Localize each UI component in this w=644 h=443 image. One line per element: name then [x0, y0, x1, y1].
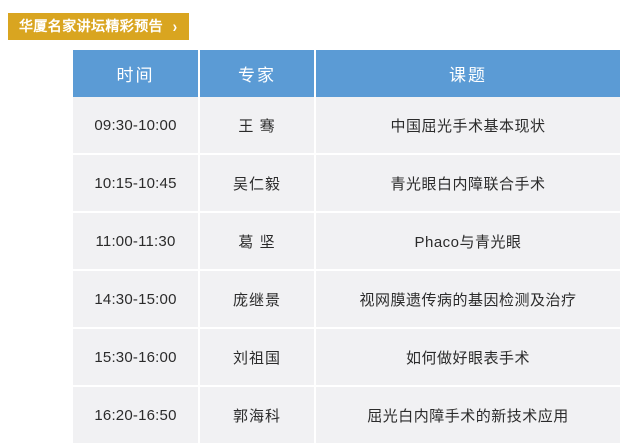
table-row: 11:00-11:30 葛 坚 Phaco与青光眼: [73, 212, 620, 270]
cell-expert: 王 骞: [199, 97, 315, 154]
cell-time: 15:30-16:00: [73, 328, 199, 386]
table-header: 时间 专家 课题: [73, 50, 620, 97]
cell-expert: 庞继景: [199, 270, 315, 328]
cell-topic: 如何做好眼表手术: [315, 328, 620, 386]
table-row: 09:30-10:00 王 骞 中国屈光手术基本现状: [73, 97, 620, 154]
cell-topic: 青光眼白内障联合手术: [315, 154, 620, 212]
table-body: 09:30-10:00 王 骞 中国屈光手术基本现状 10:15-10:45 吴…: [73, 97, 620, 443]
cell-time: 16:20-16:50: [73, 386, 199, 443]
schedule-table: 时间 专家 课题 09:30-10:00 王 骞 中国屈光手术基本现状 10:1…: [73, 50, 620, 443]
table-row: 14:30-15:00 庞继景 视网膜遗传病的基因检测及治疗: [73, 270, 620, 328]
table-row: 10:15-10:45 吴仁毅 青光眼白内障联合手术: [73, 154, 620, 212]
cell-topic: 视网膜遗传病的基因检测及治疗: [315, 270, 620, 328]
cell-time: 09:30-10:00: [73, 97, 199, 154]
table-header-row: 时间 专家 课题: [73, 50, 620, 97]
cell-expert: 郭海科: [199, 386, 315, 443]
cell-expert: 葛 坚: [199, 212, 315, 270]
cell-topic: 中国屈光手术基本现状: [315, 97, 620, 154]
banner-pill: 华厦名家讲坛精彩预告 ›: [8, 13, 189, 40]
cell-time: 14:30-15:00: [73, 270, 199, 328]
section-banner: 华厦名家讲坛精彩预告 ›: [8, 13, 189, 40]
cell-time: 10:15-10:45: [73, 154, 199, 212]
cell-expert: 刘祖国: [199, 328, 315, 386]
cell-expert: 吴仁毅: [199, 154, 315, 212]
cell-topic: 屈光白内障手术的新技术应用: [315, 386, 620, 443]
banner-title: 华厦名家讲坛精彩预告: [19, 17, 163, 35]
table-row: 15:30-16:00 刘祖国 如何做好眼表手术: [73, 328, 620, 386]
schedule-table-container: 时间 专家 课题 09:30-10:00 王 骞 中国屈光手术基本现状 10:1…: [73, 50, 620, 443]
column-header-topic: 课题: [315, 50, 620, 97]
column-header-time: 时间: [73, 50, 199, 97]
chevron-right-icon: ›: [173, 18, 178, 35]
cell-topic: Phaco与青光眼: [315, 212, 620, 270]
column-header-expert: 专家: [199, 50, 315, 97]
table-row: 16:20-16:50 郭海科 屈光白内障手术的新技术应用: [73, 386, 620, 443]
cell-time: 11:00-11:30: [73, 212, 199, 270]
